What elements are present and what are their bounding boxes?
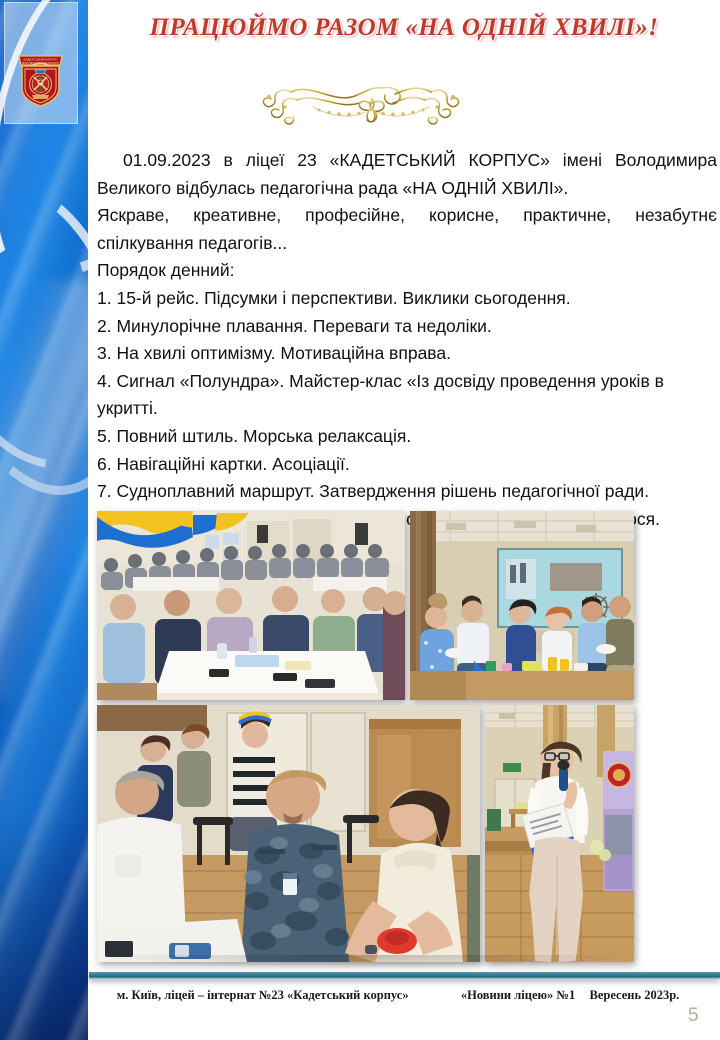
cadet-corps-crest-icon: КАДЕТСЬКИЙ КОРПУС ВОЛОДИМИРА ВЕЛИКОГО — [13, 48, 68, 110]
photo-naval-officer-guests — [97, 705, 480, 962]
article-paragraph-intro: 01.09.2023 в ліцеї 23 «КАДЕТСЬКИЙ КОРПУС… — [97, 147, 717, 202]
footer-imprint: м. Київ, ліцей – інтернат №23 «Кадетськи… — [88, 988, 708, 1003]
article-body: 01.09.2023 в ліцеї 23 «КАДЕТСЬКИЙ КОРПУС… — [97, 147, 717, 533]
page-title: ПРАЦЮЙМО РАЗОМ «НА ОДНІЙ ХВИЛІ»! — [88, 14, 720, 42]
footer-publication: «Новини ліцею» №1 — [461, 988, 575, 1002]
page-number: 5 — [688, 1005, 699, 1027]
newsletter-page: КАДЕТСЬКИЙ КОРПУС ВОЛОДИМИРА ВЕЛИКОГО — [0, 0, 720, 1040]
footer-divider-rule — [89, 972, 720, 979]
agenda-item: 3. На хвилі оптимізму. Мотиваційна вправ… — [97, 340, 717, 368]
photo-speaker-with-microphone — [485, 705, 634, 962]
agenda-item: 2. Минулорічне плавання. Переваги та нед… — [97, 313, 717, 341]
agenda-item: 5. Повний штиль. Морська релаксація. — [97, 423, 717, 451]
photo-collage — [97, 511, 634, 962]
agenda-item: 1. 15-й рейс. Підсумки і перспективи. Ви… — [97, 285, 717, 313]
decorative-sidebar: КАДЕТСЬКИЙ КОРПУС ВОЛОДИМИРА ВЕЛИКОГО — [0, 0, 88, 1040]
agenda-item: 4. Сигнал «Полундра». Майстер-клас «Із д… — [97, 368, 717, 423]
photo-group-activity-projector — [410, 511, 634, 700]
agenda-heading: Порядок денний: — [97, 257, 717, 285]
article-paragraph-impressions: Яскраве, креативне, професійне, корисне,… — [97, 202, 717, 257]
gold-filigree-divider-icon — [255, 74, 487, 130]
footer-place: м. Київ, ліцей – інтернат №23 «Кадетськи… — [117, 988, 409, 1002]
collage-drop-shadow — [100, 955, 630, 969]
agenda-item: 7. Судноплавний маршрут. Затвердження рі… — [97, 478, 717, 506]
photo-teachers-council-hall — [97, 511, 405, 700]
footer-issue-date: Вересень 2023р. — [589, 988, 679, 1002]
article-intro-text: 01.09.2023 в ліцеї 23 «КАДЕТСЬКИЙ КОРПУС… — [97, 150, 717, 198]
agenda-item: 6. Навігаційні картки. Асоціації. — [97, 451, 717, 479]
